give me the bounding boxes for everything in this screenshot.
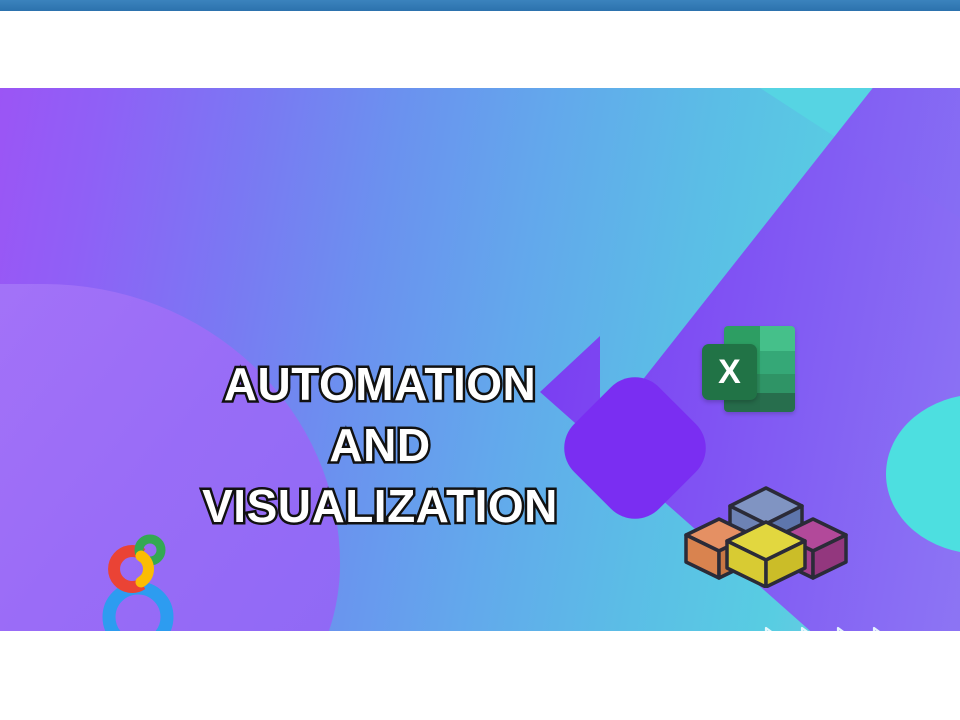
- presentation-viewer: AUTOMATION AND VISUALIZATION X: [0, 0, 960, 720]
- slide-title-line-2: AND: [120, 415, 640, 476]
- browser-top-bar: [0, 0, 960, 11]
- chevron-arrows-icon: [762, 622, 912, 631]
- chevron-1: [766, 628, 792, 631]
- looker-studio-icon: [98, 532, 184, 631]
- slide-canvas[interactable]: AUTOMATION AND VISUALIZATION X: [0, 88, 960, 631]
- excel-letter: X: [702, 344, 757, 400]
- slide-title: AUTOMATION AND VISUALIZATION: [120, 354, 640, 537]
- chevron-3: [838, 628, 864, 631]
- chevron-4: [874, 628, 900, 631]
- excel-icon: X: [700, 324, 800, 414]
- isometric-cubes-icon: [678, 486, 853, 588]
- looker-yellow-arc: [141, 556, 149, 582]
- slide-title-line-1: AUTOMATION: [120, 354, 640, 415]
- slide-title-line-3: VISUALIZATION: [120, 476, 640, 537]
- looker-blue-ring: [109, 588, 167, 631]
- chevron-2: [802, 628, 828, 631]
- excel-x-badge: X: [702, 344, 757, 400]
